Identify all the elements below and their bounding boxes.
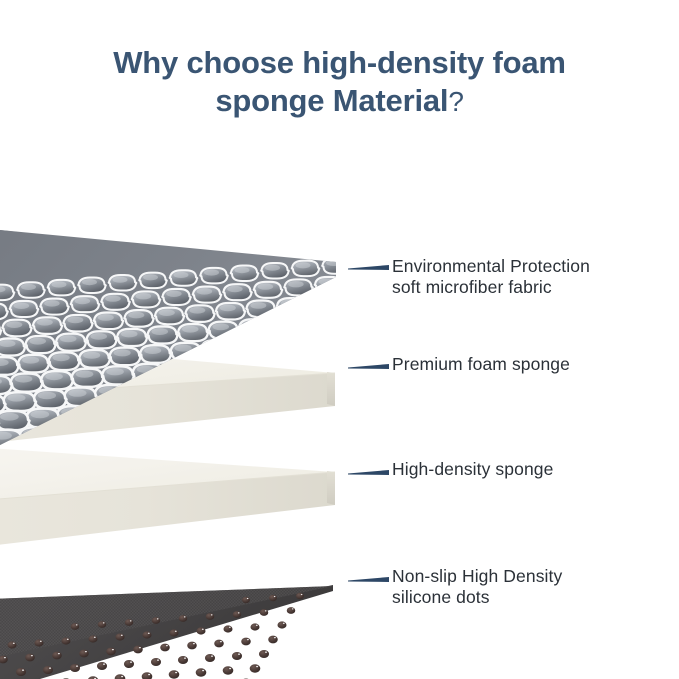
infographic-page: Why choose high-density foam sponge Mate… [0,0,679,679]
layer-high-density-foam [0,428,335,580]
leader-line-premium-foam [348,364,389,369]
callout-label-premium-foam: Premium foam sponge [392,354,570,375]
callout-label-silicone-base: Non-slip High Density silicone dots [392,566,562,608]
layer-silicone-base [0,585,333,679]
layer-stack-illustration [0,0,679,679]
callout-label-high-density-foam: High-density sponge [392,459,553,480]
leader-lines [348,265,389,582]
callout-label-microfiber: Environmental Protection soft microfiber… [392,256,590,298]
leader-line-high-density [348,470,389,475]
leader-line-silicone [348,577,389,582]
leader-line-microfiber [348,265,389,270]
